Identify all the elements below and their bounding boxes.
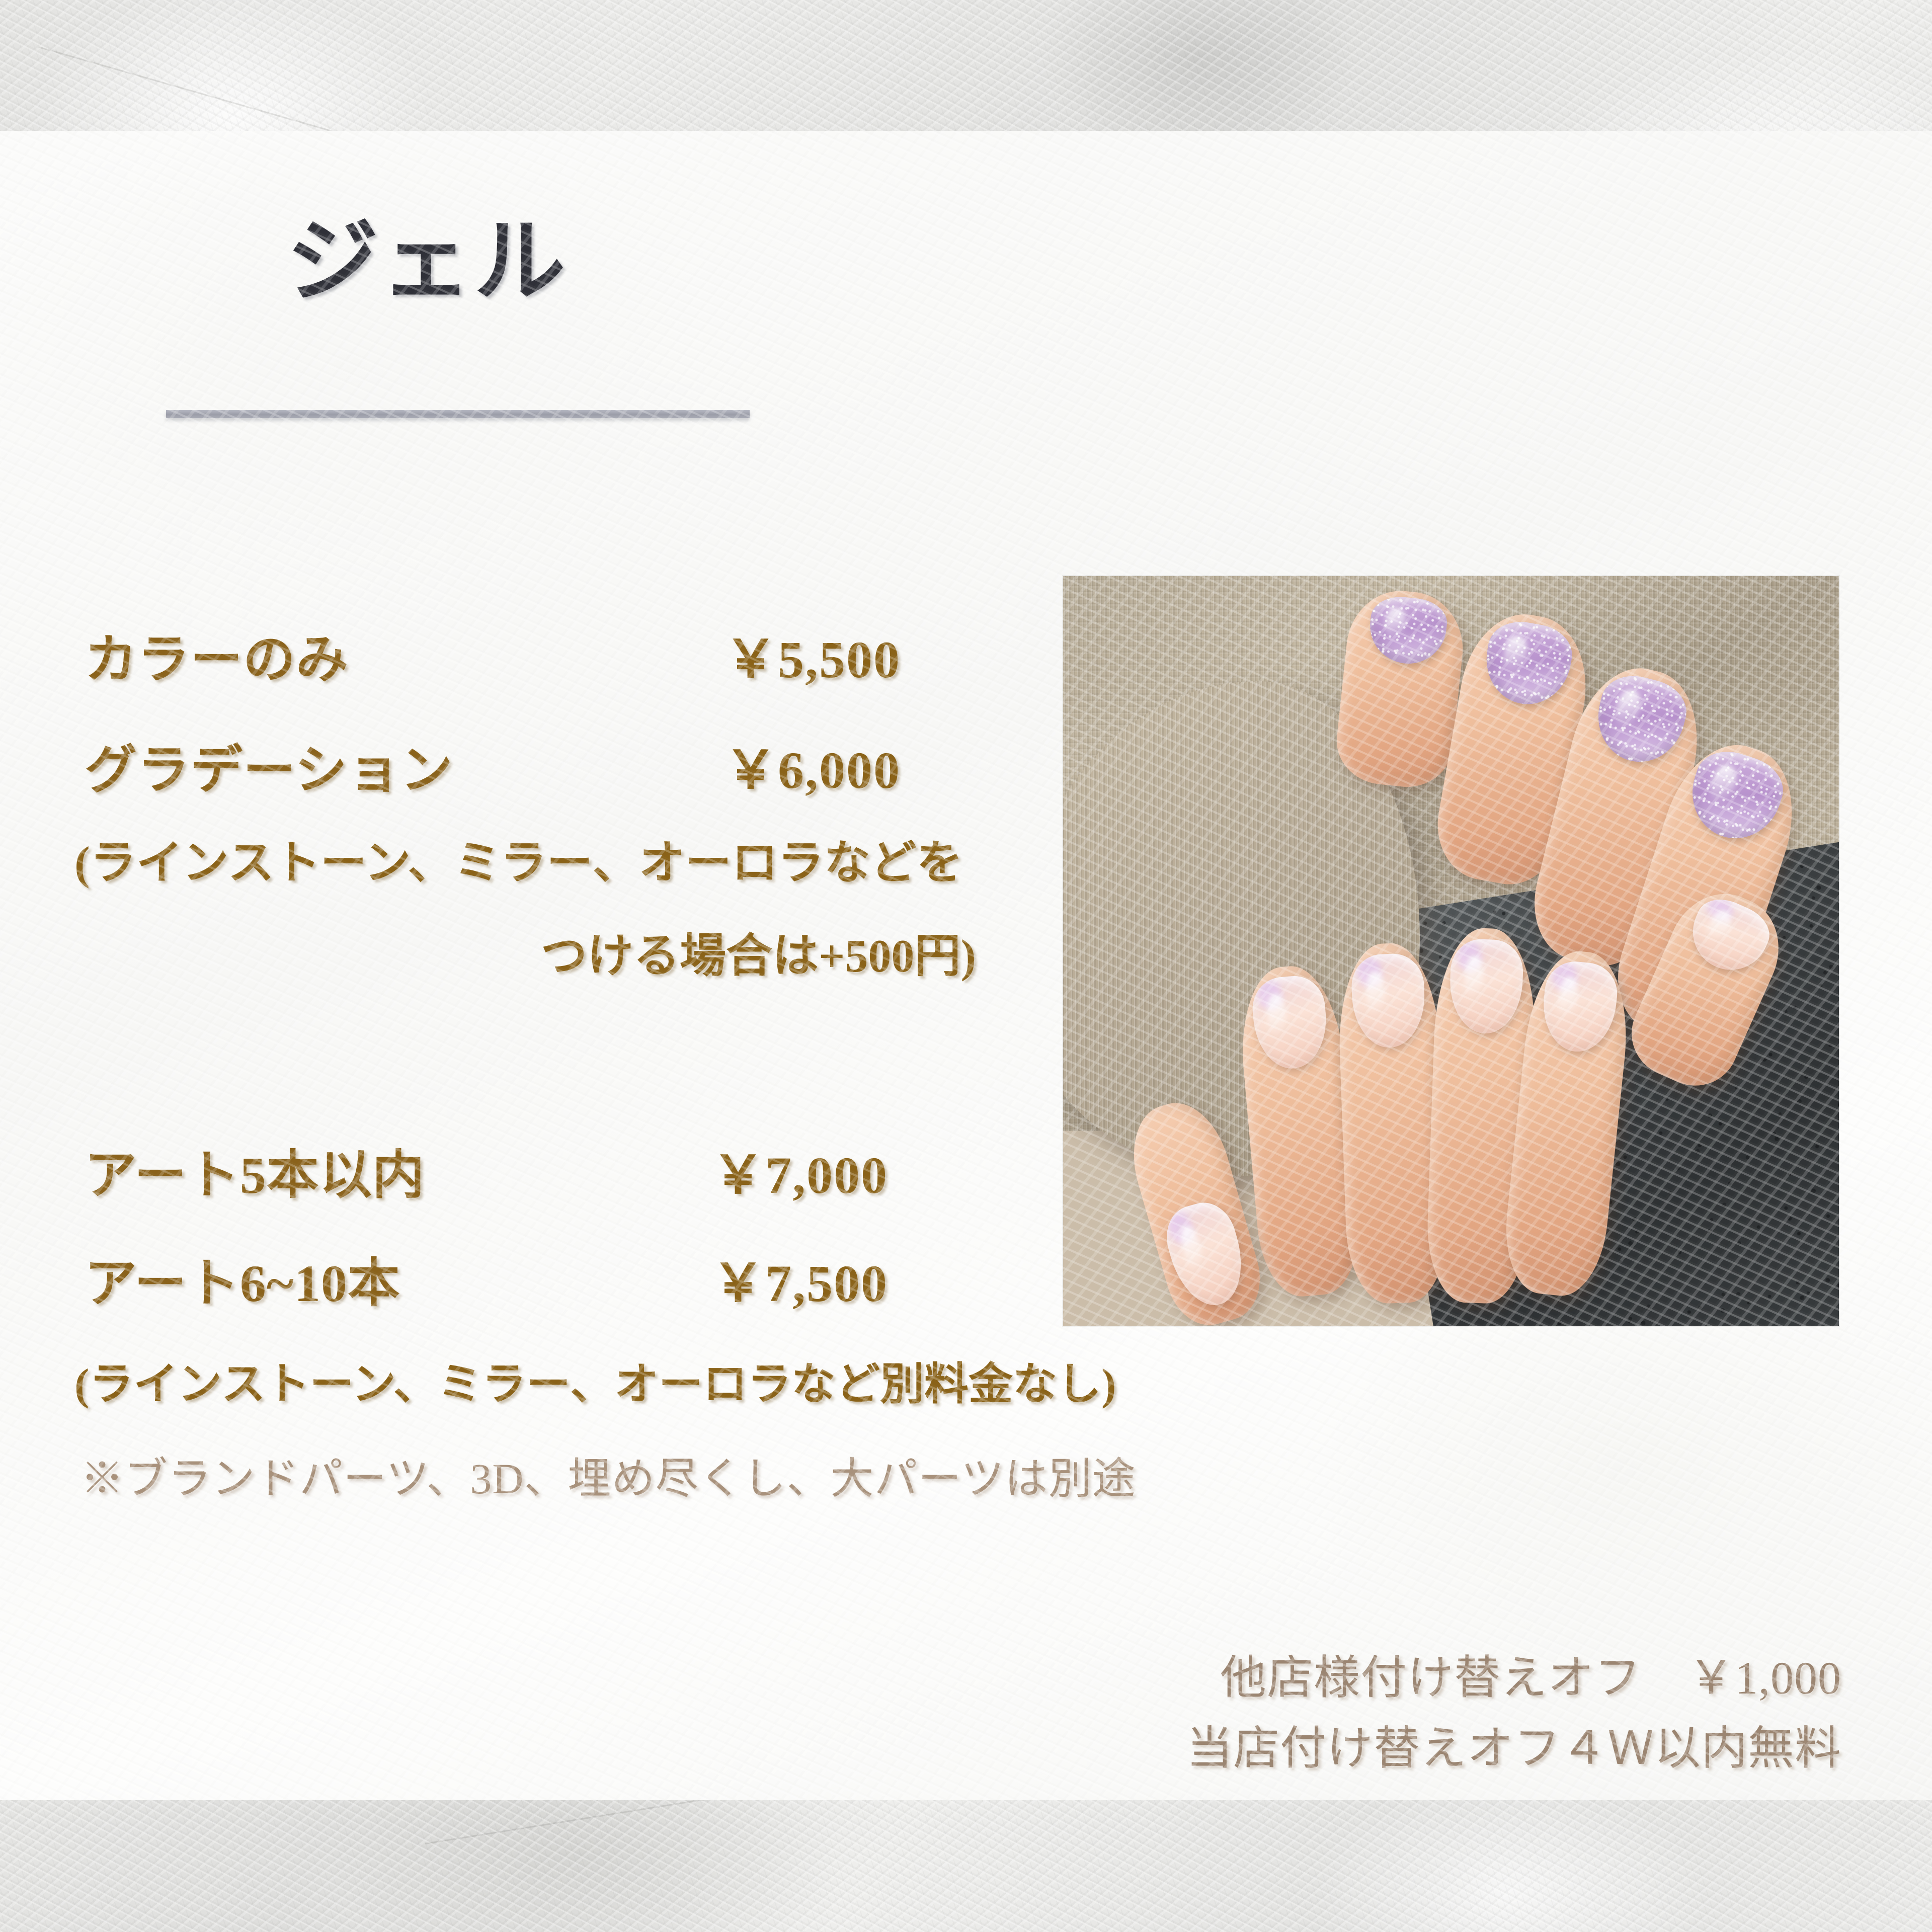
price-label-color-only: カラーのみ <box>85 616 349 692</box>
nail-sample-photo: ジェルネイル施術例の写真（ラベンダーのシマーネイルとヌードカラーのネイル） <box>1063 576 1839 1326</box>
title-divider <box>166 410 750 418</box>
menu-card: ジェル カラーのみ ￥5,500 グラデーション ￥6,000 (ラインストーン… <box>0 131 1932 1800</box>
price-amount-art-up-to-5: ￥7,000 <box>712 1132 888 1208</box>
menu-content: ジェル カラーのみ ￥5,500 グラデーション ￥6,000 (ラインストーン… <box>0 131 1932 1800</box>
footer-own-salon-off: 当店付け替えオフ４Ｗ以内無料 <box>1186 1711 1841 1778</box>
price-label-art-6-to-10: アート6~10本 <box>85 1240 400 1316</box>
section-one-note-line-1: (ラインストーン、ミラー、オーロラなどを <box>74 825 963 892</box>
section-one-note-line-2: つける場合は+500円) <box>541 918 976 985</box>
footer-other-salon-off: 他店様付け替えオフ ￥1,000 <box>1220 1640 1841 1707</box>
section-two-note: (ラインストーン、ミラー、オーロラなど別料金なし) <box>74 1348 1116 1412</box>
price-label-gradation: グラデーション <box>85 727 453 803</box>
price-amount-art-6-to-10: ￥7,500 <box>712 1240 888 1316</box>
price-label-art-up-to-5: アート5本以内 <box>85 1132 425 1208</box>
price-amount-gradation: ￥6,000 <box>725 727 901 803</box>
page-title: ジェル <box>287 215 568 307</box>
price-amount-color-only: ￥5,500 <box>725 616 901 692</box>
section-two-disclaimer: ※ブランドパーツ、3D、埋め尽くし、大パーツは別途 <box>80 1443 1136 1506</box>
menu-page: ジェル カラーのみ ￥5,500 グラデーション ￥6,000 (ラインストーン… <box>0 0 1932 1932</box>
